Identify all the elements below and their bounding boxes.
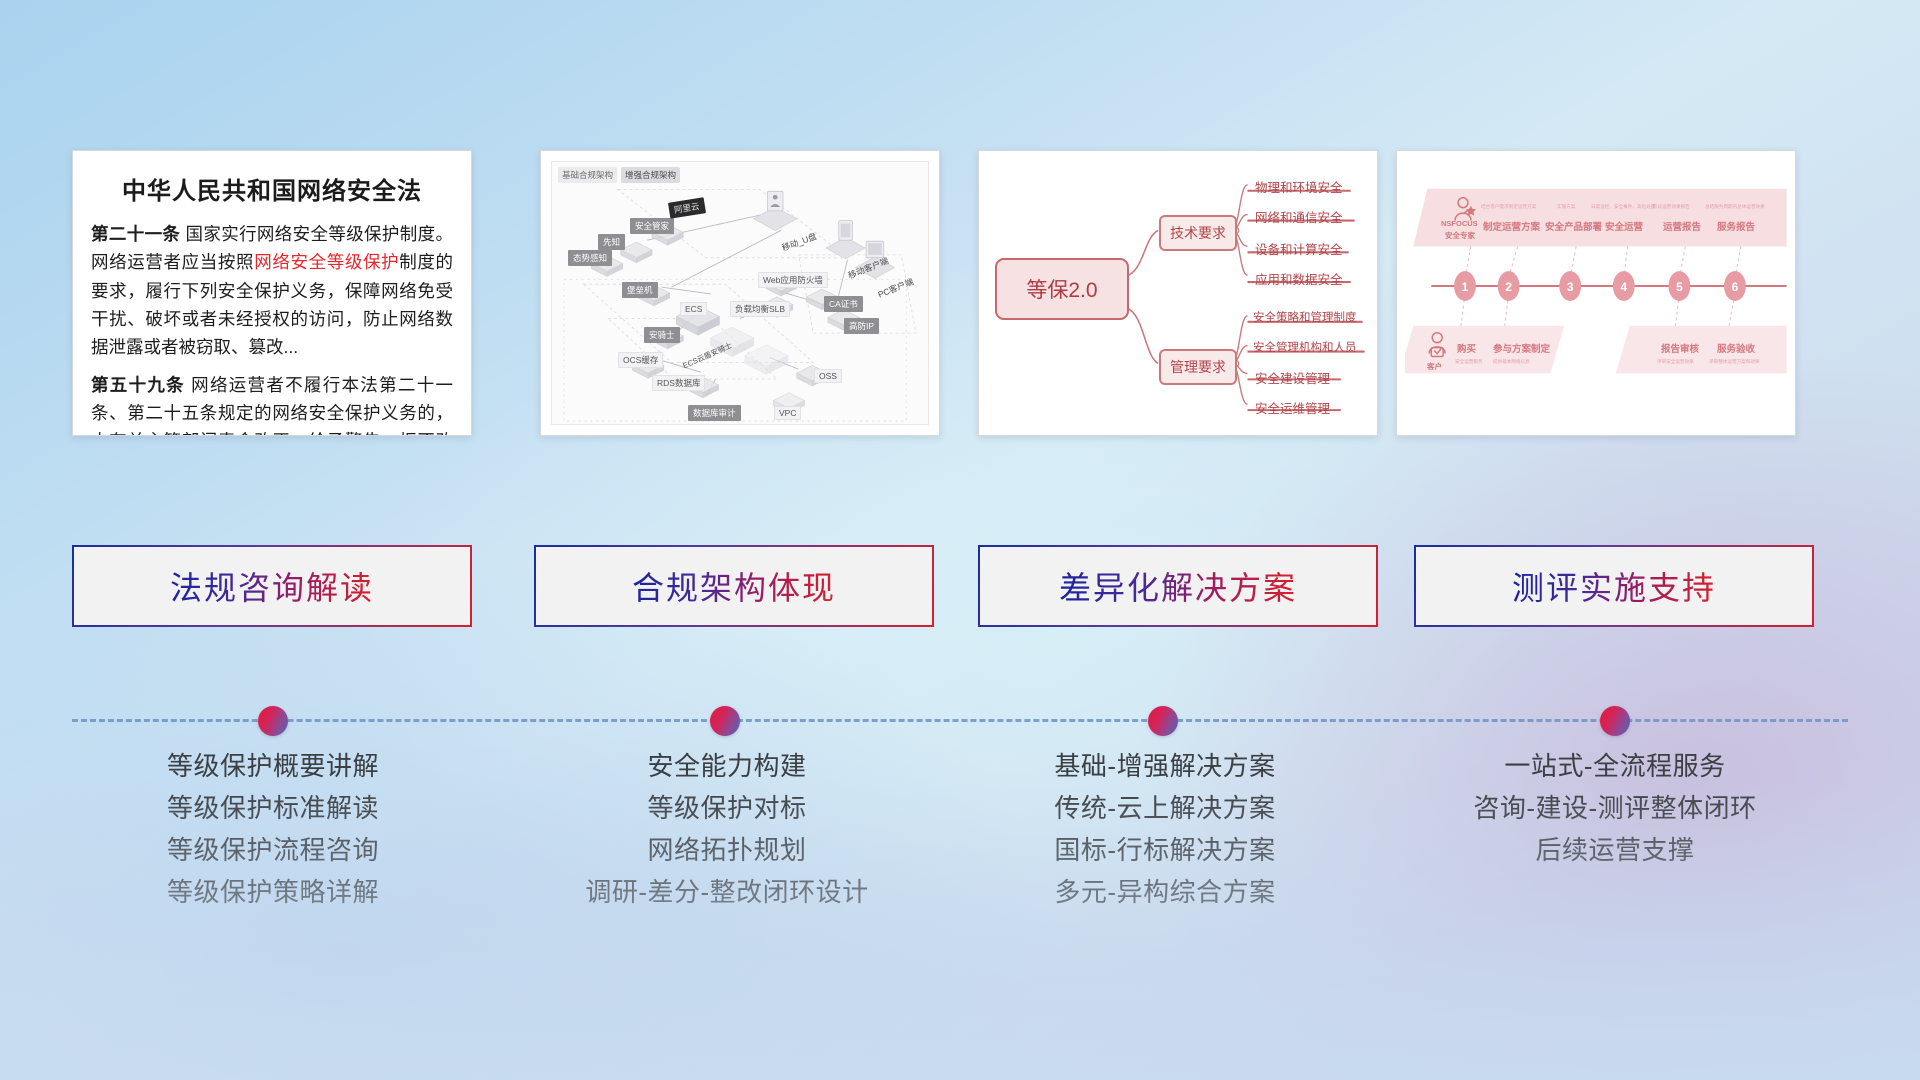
- timeline-dot-3[interactable]: [1148, 706, 1178, 736]
- list-column-regulation-consulting: 等级保护概要讲解 等级保护标准解读 等级保护流程咨询 等级保护策略详解: [58, 745, 488, 913]
- node-web-application-firewall[interactable]: Web应用防火墙: [758, 272, 828, 288]
- mindmap-leaf-network-communication-security[interactable]: 网络和通信安全: [1255, 207, 1343, 226]
- svg-text:6: 6: [1732, 280, 1739, 294]
- list-column-compliance-architecture: 安全能力构建 等级保护对标 网络拓扑规划 调研-差分-整改闭环设计: [512, 745, 942, 913]
- node-vpc[interactable]: VPC: [774, 406, 801, 420]
- law-paragraph-59: 第五十九条 网络运营者不履行本法第二十一条、第二十五条规定的网络安全保护义务的，…: [91, 371, 453, 436]
- timeline-strip: [0, 700, 1920, 740]
- list-item: 等级保护标准解读: [58, 787, 488, 829]
- timeline-dot-2[interactable]: [710, 706, 740, 736]
- cybersecurity-law-card[interactable]: 中华人民共和国网络安全法 第二十一条 国家实行网络安全等级保护制度。网络运营者应…: [72, 150, 472, 436]
- law-body: 第二十一条 国家实行网络安全等级保护制度。网络运营者应当按照网络安全等级保护制度…: [73, 220, 471, 436]
- nsfocus-step-2-subtitle: 提供基本网络信息: [1493, 359, 1530, 365]
- list-item: 基础-增强解决方案: [950, 745, 1380, 787]
- slide-root: 中华人民共和国网络安全法 第二十一条 国家实行网络安全等级保护制度。网络运营者应…: [0, 0, 1920, 1080]
- mindmap-canvas: 等保2.0 技术要求 管理要求 物理和环境安全 网络和通信安全 设备和计算安全 …: [987, 159, 1369, 427]
- svg-text:4: 4: [1620, 280, 1627, 294]
- header-box-regulation-consulting[interactable]: 法规咨询解读: [72, 545, 472, 627]
- nsfocus-step-5-subtitle: 阶段运营效果报告: [1653, 204, 1690, 210]
- node-ecs[interactable]: ECS: [680, 302, 707, 316]
- list-item: 等级保护概要讲解: [58, 745, 488, 787]
- mindmap-leaf-physical-environment-security[interactable]: 物理和环境安全: [1255, 177, 1343, 196]
- law-article-label-59: 第五十九条: [91, 375, 185, 395]
- list-item: 等级保护策略详解: [58, 871, 488, 913]
- nsfocus-step-4-title: 安全运营: [1605, 219, 1643, 233]
- header-box-differentiated-solution[interactable]: 差异化解决方案: [978, 545, 1378, 627]
- timeline-dot-4[interactable]: [1600, 706, 1630, 736]
- nsfocus-diagram-svg: 1 2 3 4 5 6: [1405, 159, 1787, 427]
- list-column-differentiated-solution: 基础-增强解决方案 传统-云上解决方案 国标-行标解决方案 多元-异构综合方案: [950, 745, 1380, 913]
- list-item: 传统-云上解决方案: [950, 787, 1380, 829]
- header-label-differentiated-solution: 差异化解决方案: [1059, 563, 1297, 609]
- nsfocus-bottom-service-acceptance-title: 服务验收: [1717, 341, 1755, 355]
- timeline-dot-1[interactable]: [258, 706, 288, 736]
- mindmap-leaf-security-management-org-personnel[interactable]: 安全管理机构和人员: [1253, 339, 1357, 355]
- law-title: 中华人民共和国网络安全法: [73, 171, 471, 206]
- nsfocus-step-6-subtitle: 总结服务周期内总体运营效果: [1705, 204, 1765, 210]
- mindmap-leaf-security-construction-management[interactable]: 安全建设管理: [1255, 368, 1330, 387]
- mindmap-branch-management-requirements[interactable]: 管理要求: [1159, 349, 1237, 385]
- header-label-assessment-support: 测评实施支持: [1512, 563, 1716, 609]
- mindmap-root-node[interactable]: 等保2.0: [995, 258, 1129, 320]
- nsfocus-top-step-2-subtitle: 结合客户需求制定运营方案: [1481, 204, 1536, 210]
- mindmap-leaf-security-operation-management[interactable]: 安全运维管理: [1255, 398, 1330, 417]
- node-oss[interactable]: OSS: [814, 369, 842, 383]
- nsfocus-step-2-title: 参与方案制定: [1493, 341, 1550, 355]
- nsfocus-step-4-subtitle: 日常运控、安全事件、高危处置: [1591, 204, 1655, 210]
- nsfocus-bottom-service-acceptance-subtitle: 评审整体运营方案和效果: [1709, 359, 1760, 365]
- nsfocus-brand-label: NSFOCUS: [1441, 219, 1478, 228]
- node-anqishi[interactable]: 安骑士: [644, 327, 680, 343]
- nsfocus-step-6-title: 服务报告: [1717, 219, 1755, 233]
- header-box-assessment-support[interactable]: 测评实施支持: [1414, 545, 1814, 627]
- nsfocus-step-5-title: 运营报告: [1663, 219, 1701, 233]
- node-security-butler[interactable]: 安全管家: [630, 218, 674, 234]
- node-xianzhi[interactable]: 先知: [598, 234, 625, 250]
- header-label-compliance-architecture: 合规架构体现: [632, 563, 836, 609]
- law-paragraph-21: 第二十一条 国家实行网络安全等级保护制度。网络运营者应当按照网络安全等级保护制度…: [91, 220, 453, 362]
- node-situational-awareness[interactable]: 态势感知: [568, 250, 612, 266]
- list-item: 多元-异构综合方案: [950, 871, 1380, 913]
- list-item: 一站式-全流程服务: [1400, 745, 1830, 787]
- header-box-compliance-architecture[interactable]: 合规架构体现: [534, 545, 934, 627]
- svg-text:5: 5: [1676, 280, 1683, 294]
- section-headers-row: 法规咨询解读 合规架构体现 差异化解决方案 测评实施支持: [0, 545, 1920, 643]
- node-database-audit[interactable]: 数据库审计: [688, 405, 741, 421]
- screenshot-cards-row: 中华人民共和国网络安全法 第二十一条 国家实行网络安全等级保护制度。网络运营者应…: [0, 150, 1920, 440]
- law-seg-21-1-highlight: 网络安全等级保护: [254, 252, 399, 272]
- list-item: 安全能力构建: [512, 745, 942, 787]
- mindmap-leaf-device-computing-security[interactable]: 设备和计算安全: [1255, 239, 1343, 258]
- nsfocus-top-step-2-title: 制定运营方案: [1483, 219, 1540, 233]
- list-item: 网络拓扑规划: [512, 829, 942, 871]
- nsfocus-step-3-title: 安全产品部署: [1545, 219, 1602, 233]
- list-item: 后续运营支撑: [1400, 829, 1830, 871]
- architecture-canvas: 基础合规架构 增强合规架构: [551, 161, 929, 425]
- nsfocus-bottom-report-review-subtitle: 评审安全运营效果: [1657, 359, 1694, 365]
- dengbao-mindmap-card[interactable]: 等保2.0 技术要求 管理要求 物理和环境安全 网络和通信安全 设备和计算安全 …: [978, 150, 1378, 436]
- node-slb[interactable]: 负载均衡SLB: [730, 301, 790, 317]
- nsfocus-canvas: 1 2 3 4 5 6: [1405, 159, 1787, 427]
- nsfocus-step-3-subtitle: 实施方案: [1557, 204, 1575, 210]
- detail-lists-row: 等级保护概要讲解 等级保护标准解读 等级保护流程咨询 等级保护策略详解 安全能力…: [0, 745, 1920, 995]
- nsfocus-customer-role-label: 客户: [1427, 361, 1442, 372]
- nsfocus-step-1-title: 购买: [1457, 341, 1476, 355]
- header-label-regulation-consulting: 法规咨询解读: [170, 563, 374, 609]
- nsfocus-timeline-card[interactable]: 1 2 3 4 5 6: [1396, 150, 1796, 436]
- node-rds-database[interactable]: RDS数据库: [652, 375, 705, 391]
- nsfocus-bottom-report-review-title: 报告审核: [1661, 341, 1699, 355]
- svg-text:3: 3: [1567, 280, 1574, 294]
- mindmap-leaf-security-policy-management-system[interactable]: 安全策略和管理制度: [1253, 309, 1357, 325]
- list-item: 国标-行标解决方案: [950, 829, 1380, 871]
- list-item: 等级保护流程咨询: [58, 829, 488, 871]
- mindmap-branch-technical-requirements[interactable]: 技术要求: [1159, 215, 1237, 251]
- cloud-architecture-card[interactable]: 基础合规架构 增强合规架构: [540, 150, 940, 436]
- svg-text:1: 1: [1462, 280, 1469, 294]
- nsfocus-step-1-subtitle: 安全运营服务: [1455, 359, 1483, 365]
- nsfocus-expert-role-label: 安全专家: [1445, 230, 1475, 241]
- timeline-dashed-line: [72, 719, 1848, 722]
- list-item: 咨询-建设-测评整体闭环: [1400, 787, 1830, 829]
- node-ocs-cache[interactable]: OCS缓存: [618, 352, 663, 368]
- list-item: 调研-差分-整改闭环设计: [512, 871, 942, 913]
- node-bastion-host[interactable]: 堡垒机: [622, 282, 658, 298]
- svg-text:2: 2: [1505, 280, 1512, 294]
- mindmap-leaf-application-data-security[interactable]: 应用和数据安全: [1255, 269, 1343, 288]
- law-article-label-21: 第二十一条: [91, 224, 180, 244]
- node-ca-certificate[interactable]: CA证书: [824, 296, 863, 312]
- list-column-assessment-support: 一站式-全流程服务 咨询-建设-测评整体闭环 后续运营支撑: [1400, 745, 1830, 871]
- node-anti-ddos-ip[interactable]: 高防IP: [844, 318, 879, 334]
- list-item: 等级保护对标: [512, 787, 942, 829]
